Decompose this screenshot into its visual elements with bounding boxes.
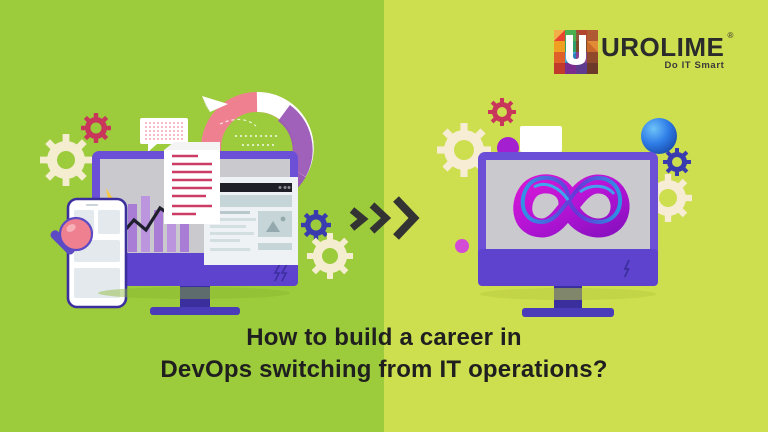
logo-wordmark: UROLIME bbox=[601, 34, 724, 60]
headline-line-1: How to build a career in bbox=[0, 322, 768, 354]
gear-large-cream-icon bbox=[40, 134, 92, 186]
registered-trademark-icon: ® bbox=[727, 32, 733, 40]
gear-small-blue-icon bbox=[301, 210, 331, 240]
urolime-logo[interactable]: UROLIME ® Do IT Smart bbox=[554, 28, 744, 76]
right-illustration bbox=[430, 88, 730, 298]
logo-tagline: Do IT Smart bbox=[601, 61, 724, 71]
headline: How to build a career in DevOps switchin… bbox=[0, 322, 768, 386]
gear-small-blue-icon bbox=[663, 148, 691, 176]
left-illustration bbox=[52, 88, 352, 298]
logo-text-block: UROLIME ® Do IT Smart bbox=[601, 34, 724, 71]
poster-canvas: UROLIME ® Do IT Smart bbox=[0, 0, 768, 432]
gear-small-red-icon bbox=[488, 98, 516, 126]
gear-small-red-icon bbox=[81, 113, 111, 143]
sphere-blue-icon bbox=[641, 118, 677, 154]
circle-pink-small-icon bbox=[455, 239, 469, 253]
headline-line-2: DevOps switching from IT operations? bbox=[0, 354, 768, 386]
document-icon bbox=[164, 142, 220, 224]
chevron-right-triple-icon bbox=[346, 192, 426, 244]
logo-mosaic-icon bbox=[554, 30, 598, 74]
